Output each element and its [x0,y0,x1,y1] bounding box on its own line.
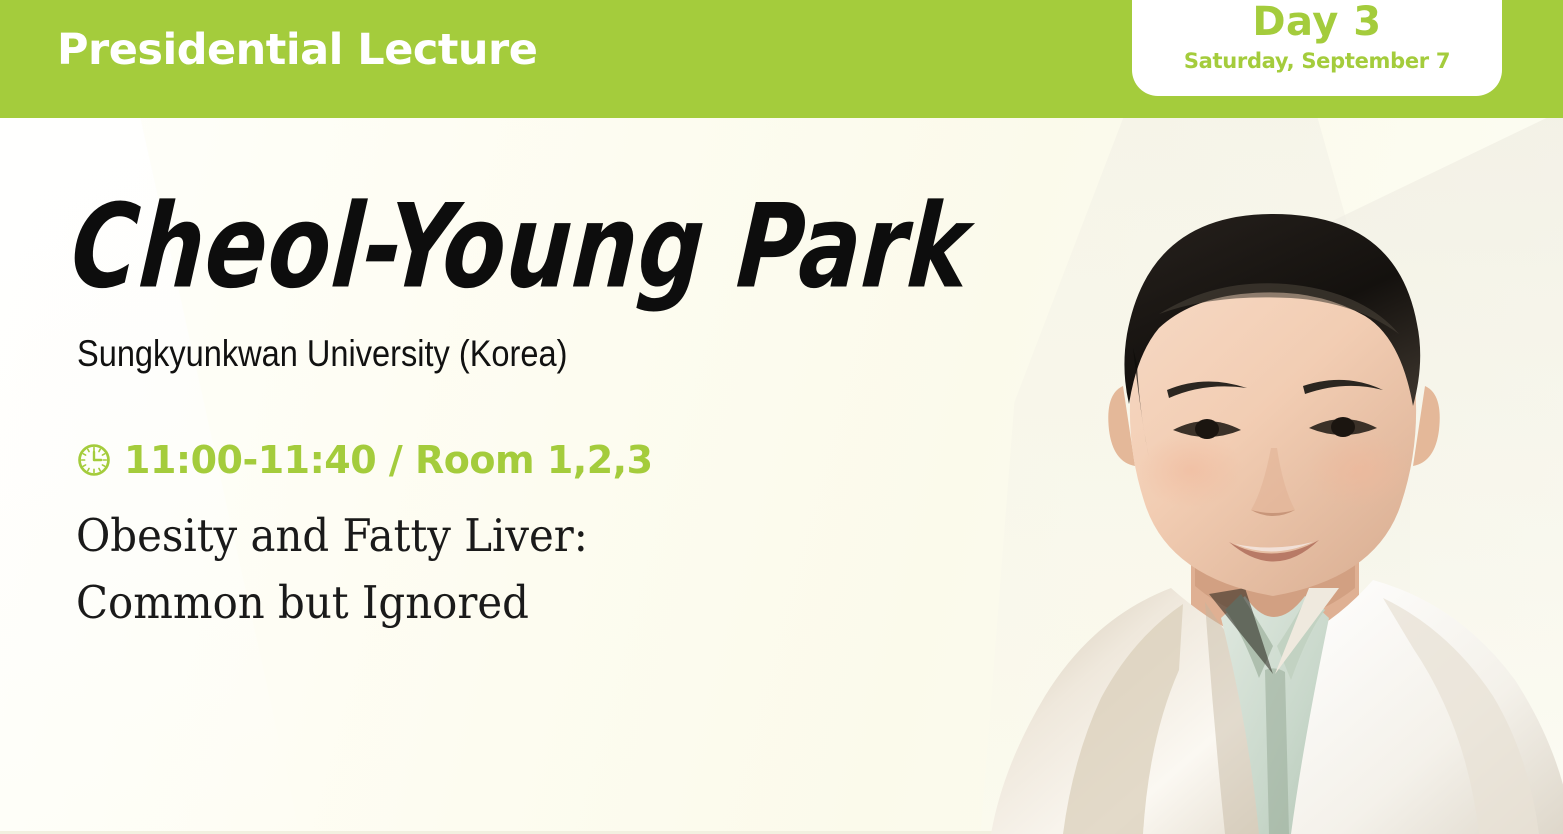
page-title: Presidential Lecture [57,25,537,75]
session-time-row: 11:00-11:40 / Room 1,2,3 [77,438,653,482]
speaker-affiliation: Sungkyunkwan University (Korea) [77,333,567,375]
day-badge-day: Day 3 [1132,2,1502,42]
day-badge-date: Saturday, September 7 [1132,49,1502,73]
session-time-room: 11:00-11:40 / Room 1,2,3 [124,438,653,482]
speaker-name: Cheol-Young Park [68,190,974,306]
speaker-photo [963,118,1563,834]
lecture-title: Obesity and Fatty Liver: Common but Igno… [76,503,588,636]
day-badge: Day 3 Saturday, September 7 [1132,0,1502,96]
presidential-lecture-banner: Presidential Lecture Day 3 Saturday, Sep… [0,0,1563,834]
clock-icon [77,443,111,477]
